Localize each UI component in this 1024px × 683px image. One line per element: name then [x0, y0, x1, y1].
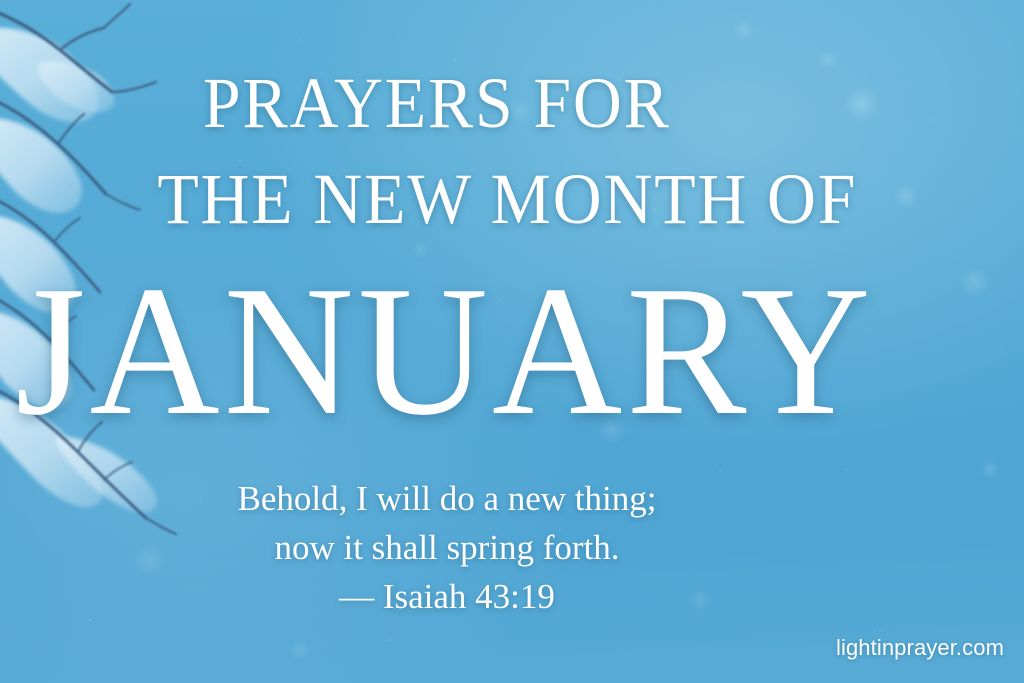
- poster-canvas: PRAYERS FOR THE NEW MONTH OF JANUARY Beh…: [0, 0, 1024, 683]
- verse-attribution: — Isaiah 43:19: [0, 572, 894, 621]
- headline-line-2: THE NEW MONTH OF: [31, 160, 994, 238]
- scripture-verse: Behold, I will do a new thing; now it sh…: [0, 474, 1024, 621]
- site-url-watermark: lightinprayer.com: [836, 635, 1004, 661]
- headline-line-1: PRAYERS FOR: [31, 64, 994, 142]
- headline-month-january: JANUARY: [15, 253, 1008, 449]
- verse-line-1: Behold, I will do a new thing;: [0, 474, 894, 523]
- verse-line-2: now it shall spring forth.: [0, 523, 894, 572]
- poster-text-block: PRAYERS FOR THE NEW MONTH OF JANUARY Beh…: [0, 0, 1024, 683]
